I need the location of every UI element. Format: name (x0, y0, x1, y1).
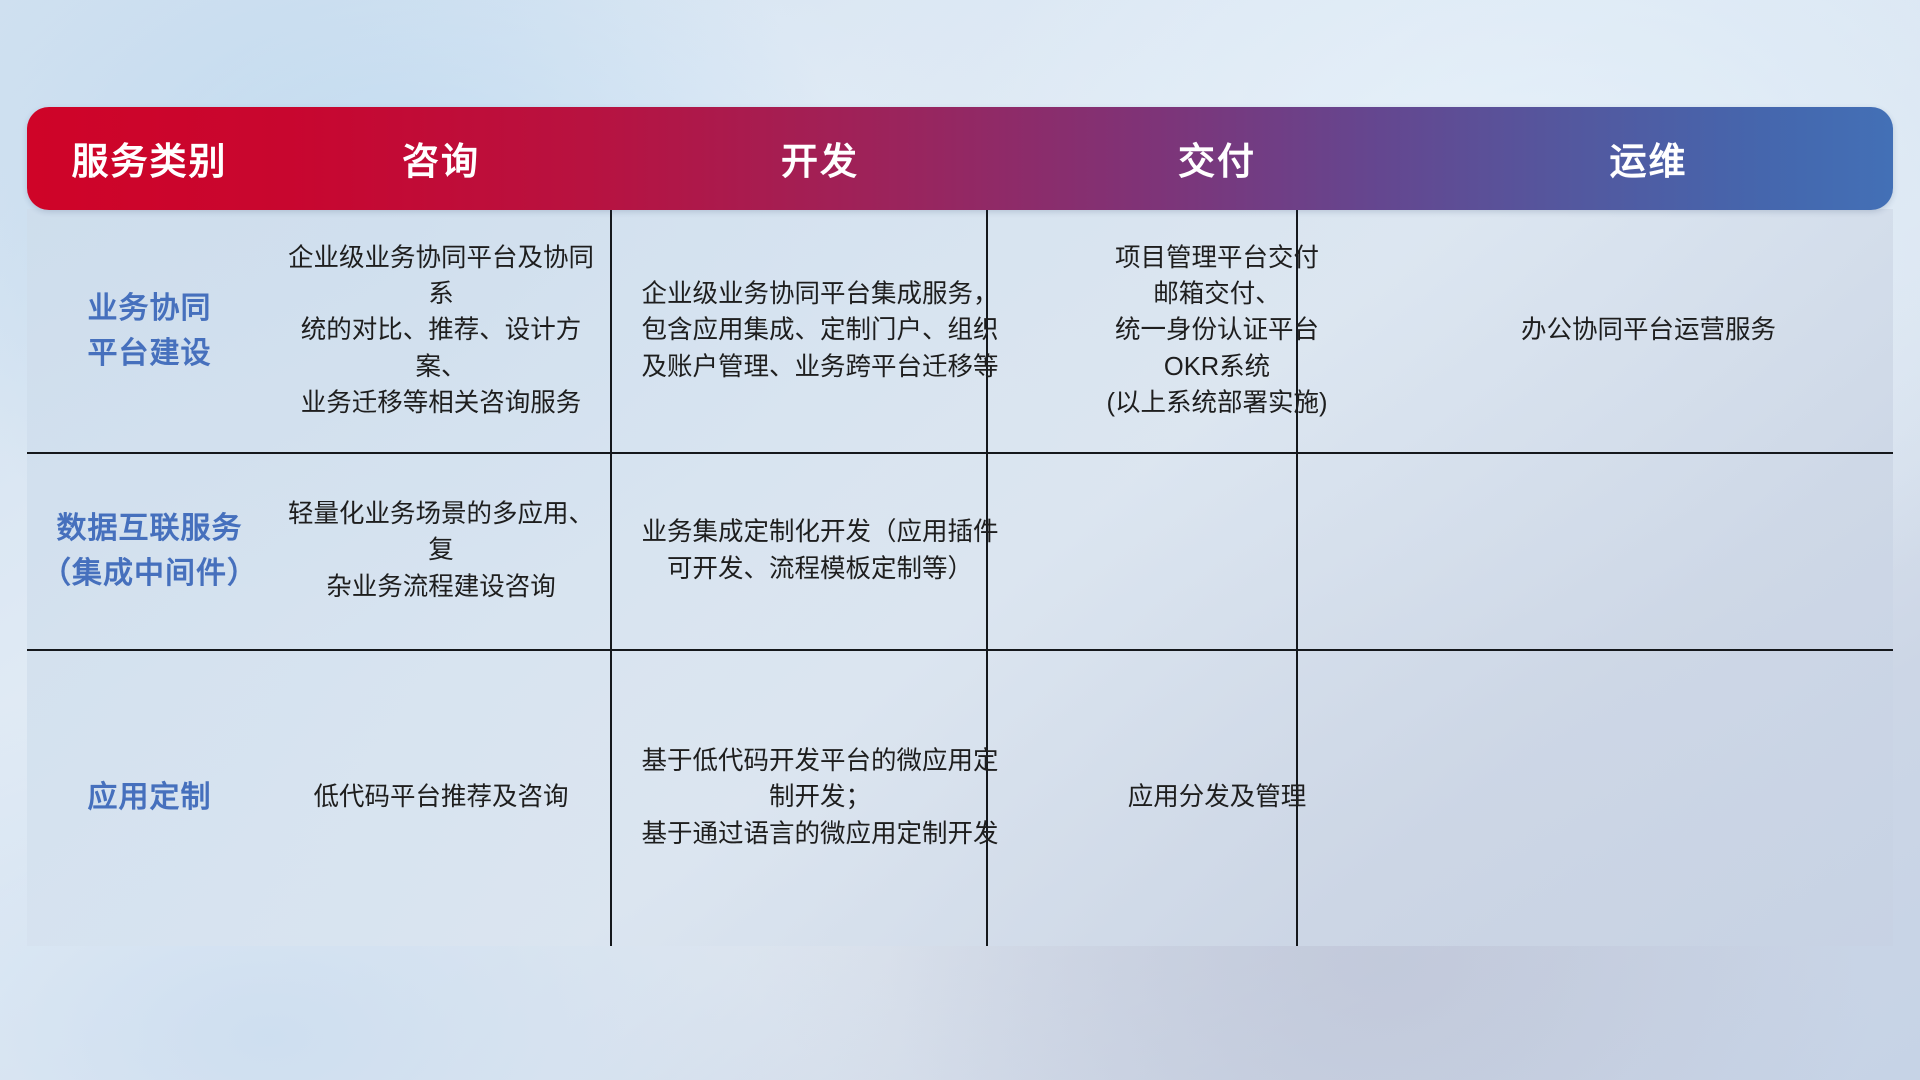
table-body: 业务协同 平台建设 企业级业务协同平台及协同系 统的对比、推荐、设计方案、 业务… (27, 209, 1893, 946)
cell-row2-consulting-text: 轻量化业务场景的多应用、复 杂业务流程建设咨询 (272, 496, 610, 605)
column-header-development-label: 开发 (781, 143, 859, 180)
column-header-delivery: 交付 (1030, 107, 1404, 210)
column-header-development: 开发 (610, 107, 1030, 210)
cell-row3-development-text: 基于低代码开发平台的微应用定 制开发； 基于通过语言的微应用定制开发 (627, 743, 1012, 852)
cell-row3-consulting: 低代码平台推荐及咨询 (272, 649, 610, 946)
cell-row1-development: 企业级业务协同平台集成服务， 包含应用集成、定制门户、组织 及账户管理、业务跨平… (610, 209, 1030, 452)
column-header-consulting-label: 咨询 (402, 143, 480, 180)
service-matrix-table: 服务类别 咨询 开发 交付 运维 业务协同 平台建设 (27, 107, 1893, 947)
cell-row2-consulting: 轻量化业务场景的多应用、复 杂业务流程建设咨询 (272, 452, 610, 649)
column-header-consulting: 咨询 (272, 107, 610, 210)
cell-row1-operations: 办公协同平台运营服务 (1404, 209, 1893, 452)
cell-row3-consulting-text: 低代码平台推荐及咨询 (299, 779, 582, 815)
cell-row2-category-text: 数据互联服务 （集成中间件） (41, 506, 258, 596)
cell-row3-development: 基于低代码开发平台的微应用定 制开发； 基于通过语言的微应用定制开发 (610, 649, 1030, 946)
cell-row3-category-text: 应用定制 (88, 775, 212, 820)
cell-row1-delivery: 项目管理平台交付 邮箱交付、 统一身份认证平台 OKR系统 (以上系统部署实施) (1030, 209, 1404, 452)
cell-row2-delivery (1030, 452, 1404, 649)
cell-row3-delivery: 应用分发及管理 (1030, 649, 1404, 946)
cell-row2-operations (1404, 452, 1893, 649)
column-header-operations-label: 运维 (1610, 143, 1688, 180)
slide-canvas: 服务类别 咨询 开发 交付 运维 业务协同 平台建设 (0, 0, 1920, 1080)
cell-row3-category: 应用定制 (27, 649, 272, 946)
cell-row2-category: 数据互联服务 （集成中间件） (27, 452, 272, 649)
column-header-category: 服务类别 (27, 107, 272, 210)
cell-row1-development-text: 企业级业务协同平台集成服务， 包含应用集成、定制门户、组织 及账户管理、业务跨平… (627, 276, 1012, 385)
cell-row1-consulting-text: 企业级业务协同平台及协同系 统的对比、推荐、设计方案、 业务迁移等相关咨询服务 (272, 240, 610, 421)
cell-row3-operations (1404, 649, 1893, 946)
cell-row1-consulting: 企业级业务协同平台及协同系 统的对比、推荐、设计方案、 业务迁移等相关咨询服务 (272, 209, 610, 452)
cell-row1-operations-text: 办公协同平台运营服务 (1507, 312, 1790, 348)
cell-row1-category-text: 业务协同 平台建设 (88, 286, 212, 376)
cell-row1-category: 业务协同 平台建设 (27, 209, 272, 452)
table-row: 应用定制 低代码平台推荐及咨询 基于低代码开发平台的微应用定 制开发； 基于通过… (27, 649, 1893, 946)
cell-row2-development-text: 业务集成定制化开发（应用插件 可开发、流程模板定制等） (627, 514, 1012, 586)
column-header-operations: 运维 (1404, 107, 1893, 210)
column-header-category-label: 服务类别 (72, 143, 228, 180)
cell-row2-development: 业务集成定制化开发（应用插件 可开发、流程模板定制等） (610, 452, 1030, 649)
table-row: 业务协同 平台建设 企业级业务协同平台及协同系 统的对比、推荐、设计方案、 业务… (27, 209, 1893, 452)
column-header-delivery-label: 交付 (1178, 143, 1256, 180)
cell-row3-delivery-text: 应用分发及管理 (1114, 779, 1321, 815)
table-header-row: 服务类别 咨询 开发 交付 运维 (27, 107, 1893, 210)
table-row: 数据互联服务 （集成中间件） 轻量化业务场景的多应用、复 杂业务流程建设咨询 业… (27, 452, 1893, 649)
cell-row1-delivery-text: 项目管理平台交付 邮箱交付、 统一身份认证平台 OKR系统 (以上系统部署实施) (1093, 240, 1342, 421)
